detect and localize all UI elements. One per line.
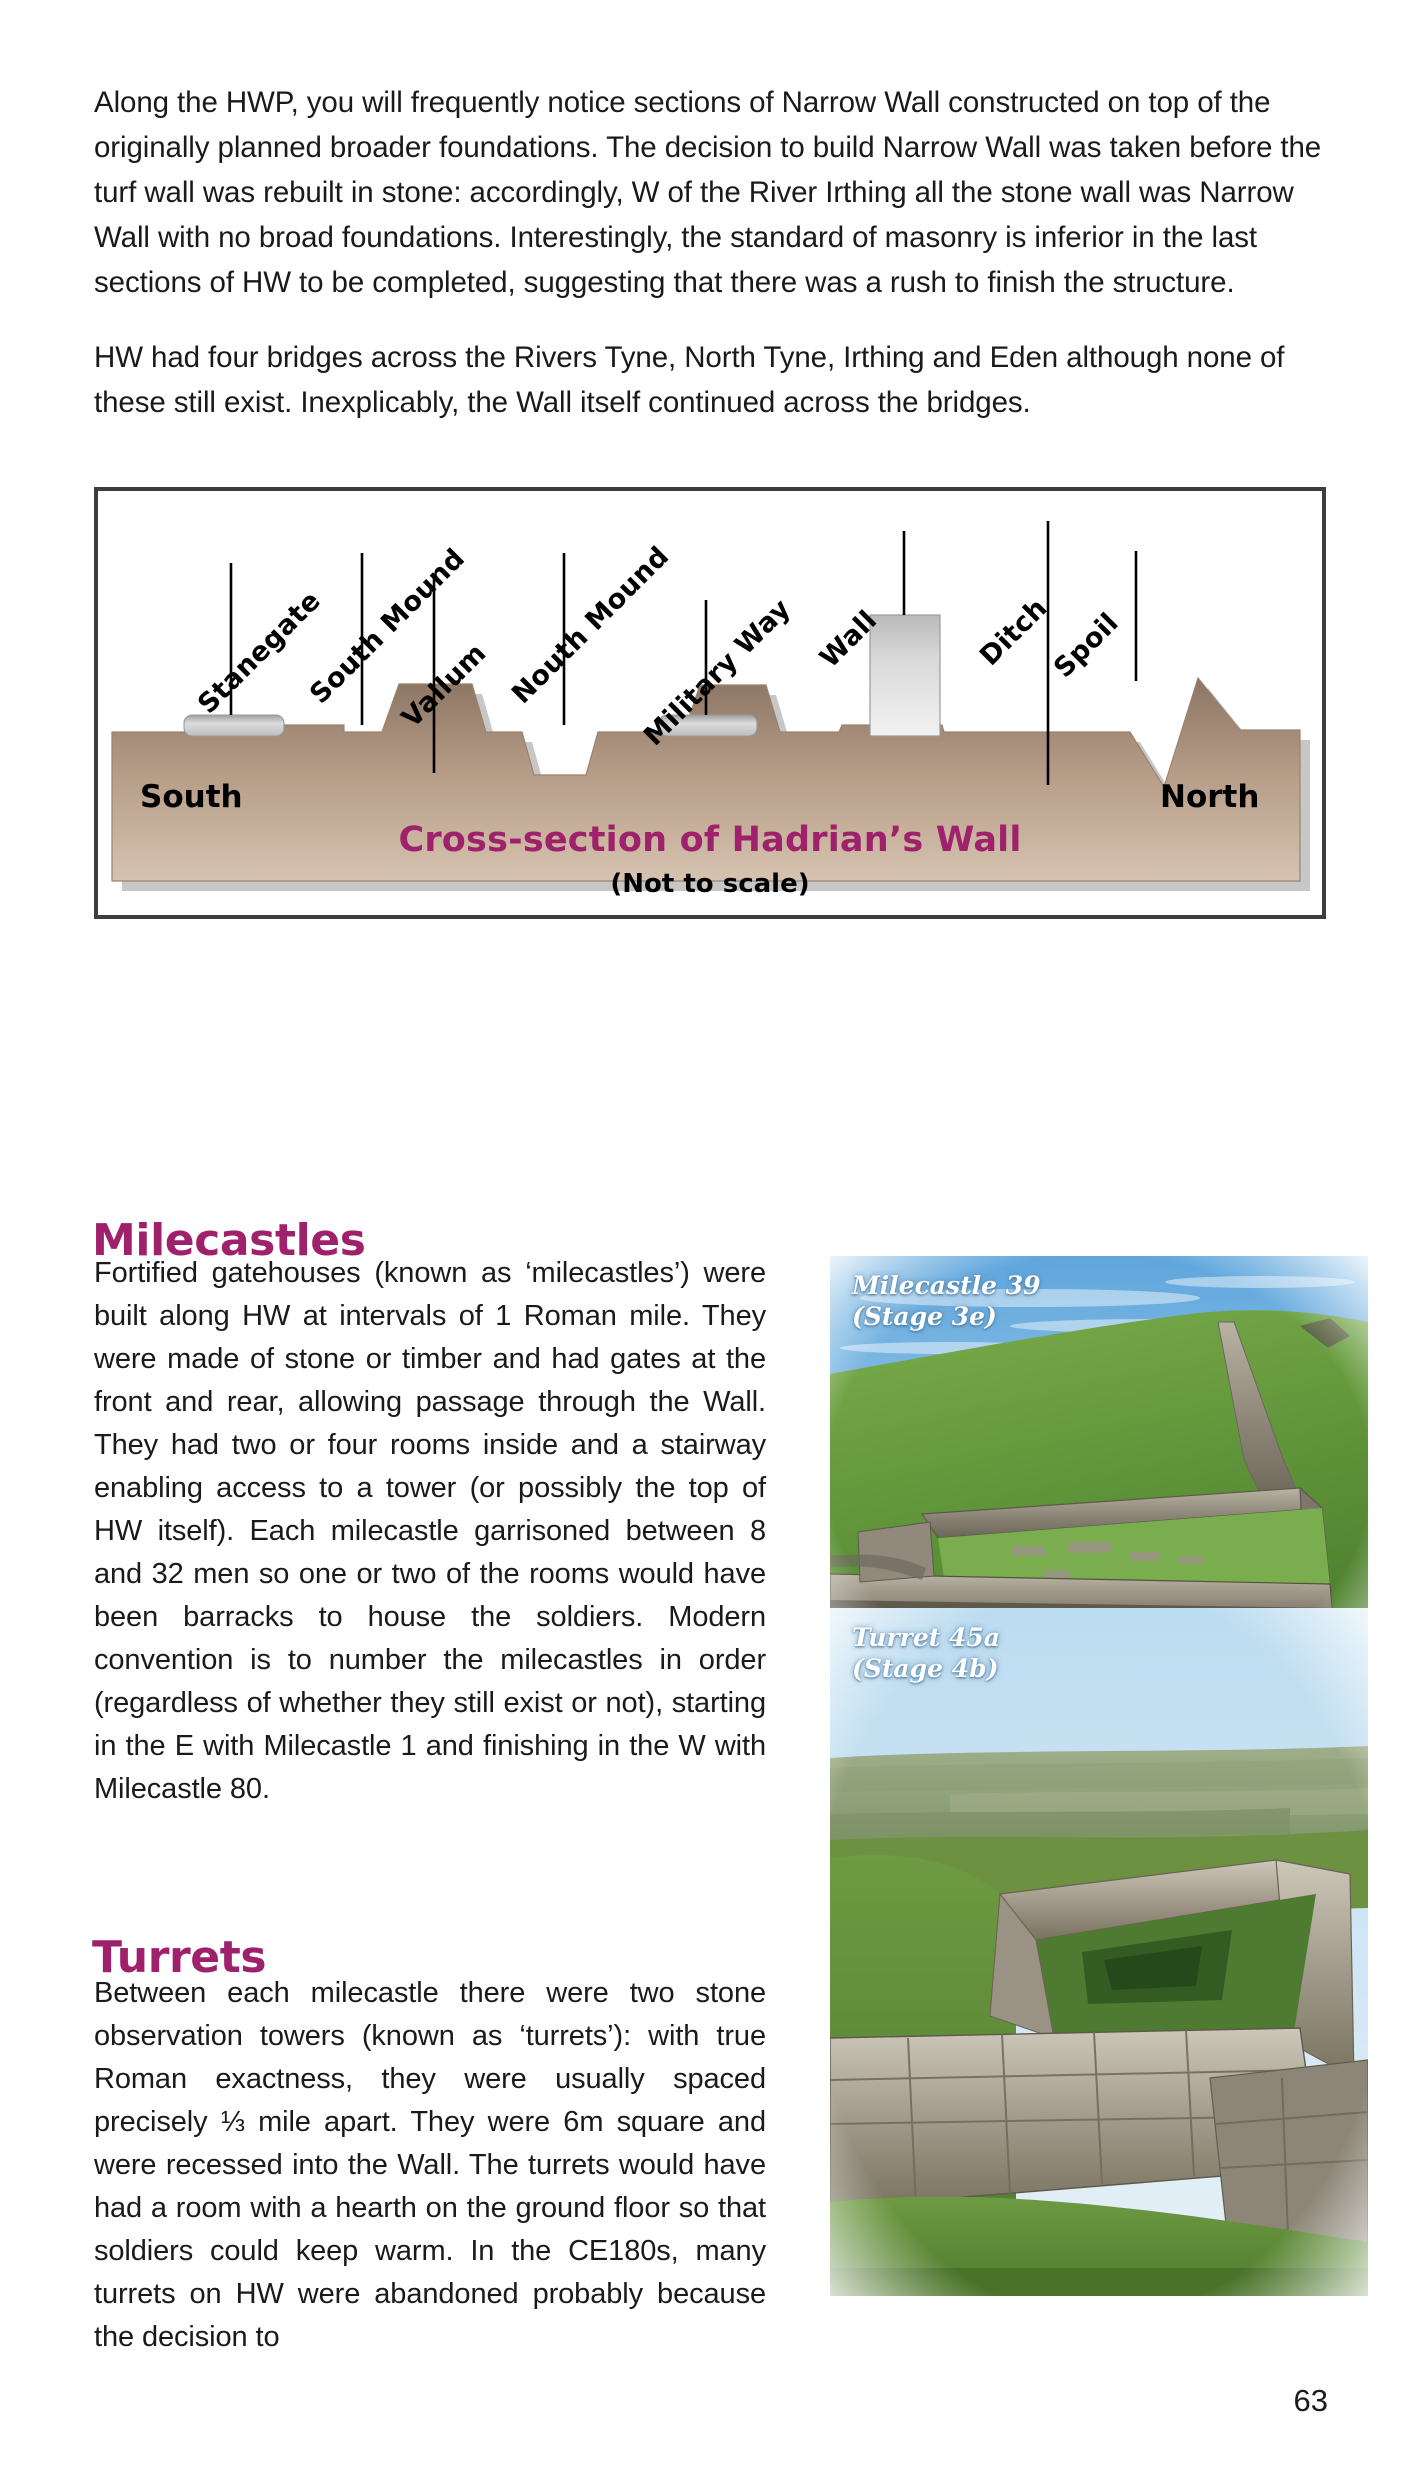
turrets-text-column: Between each milecastle there were two s… bbox=[94, 1972, 766, 2359]
photo-caption-line-1: Turret 45a bbox=[852, 1623, 1000, 1652]
stanegate-road-slab bbox=[184, 715, 284, 736]
wall-block bbox=[870, 615, 940, 736]
figure-caption-title: Cross-section of Hadrian’s Wall bbox=[98, 820, 1322, 860]
intro-text-block: Along the HWP, you will frequently notic… bbox=[94, 80, 1326, 455]
turrets-paragraph: Between each milecastle there were two s… bbox=[94, 1972, 766, 2359]
photo-caption-line-1: Milecastle 39 bbox=[852, 1271, 1041, 1300]
photo-turret-45a-caption: Turret 45a(Stage 4b) bbox=[852, 1622, 1000, 1684]
photo-milecastle-39-caption: Milecastle 39(Stage 3e) bbox=[852, 1270, 1041, 1332]
figure-north-label: North bbox=[1160, 779, 1259, 815]
cross-section-figure: Stanegate South Mound Vallum Nouth Mound… bbox=[94, 487, 1326, 919]
intro-paragraph-1: Along the HWP, you will frequently notic… bbox=[94, 80, 1326, 305]
photo-turret-45a: Turret 45a(Stage 4b) bbox=[830, 1608, 1368, 2296]
page-number: 63 bbox=[1294, 2383, 1328, 2419]
document-page: Along the HWP, you will frequently notic… bbox=[0, 0, 1418, 2481]
photo-caption-line-2: (Stage 4b) bbox=[852, 1654, 998, 1683]
cross-section-figure-inner: Stanegate South Mound Vallum Nouth Mound… bbox=[98, 491, 1322, 915]
intro-paragraph-2: HW had four bridges across the Rivers Ty… bbox=[94, 335, 1326, 425]
milecastles-paragraph: Fortified gatehouses (known as ‘milecast… bbox=[94, 1252, 766, 1811]
figure-caption-subtitle: (Not to scale) bbox=[98, 869, 1322, 899]
figure-south-label: South bbox=[140, 779, 243, 815]
photo-caption-line-2: (Stage 3e) bbox=[852, 1302, 997, 1331]
photo-turret-45a-image bbox=[830, 1608, 1368, 2296]
milecastles-text-column: Fortified gatehouses (known as ‘milecast… bbox=[94, 1252, 766, 1811]
